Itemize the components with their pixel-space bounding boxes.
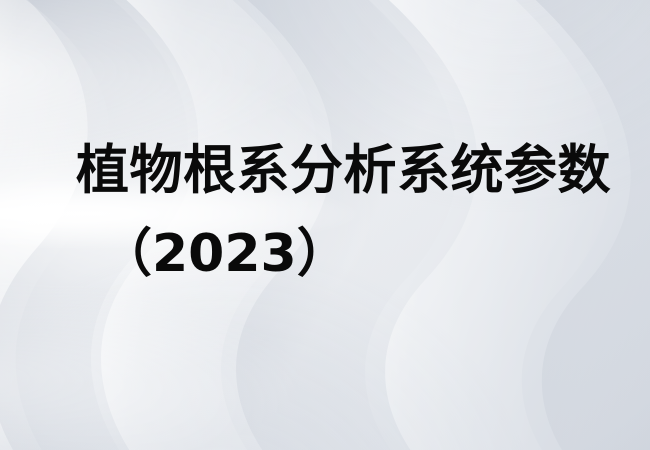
slide-title-year: （2023） xyxy=(100,228,349,280)
title-block: 植物根系分析系统参数 （2023） xyxy=(0,0,650,450)
slide-title-line-1: 植物根系分析系统参数 xyxy=(76,144,611,197)
slide-canvas: 植物根系分析系统参数 （2023） xyxy=(0,0,650,450)
